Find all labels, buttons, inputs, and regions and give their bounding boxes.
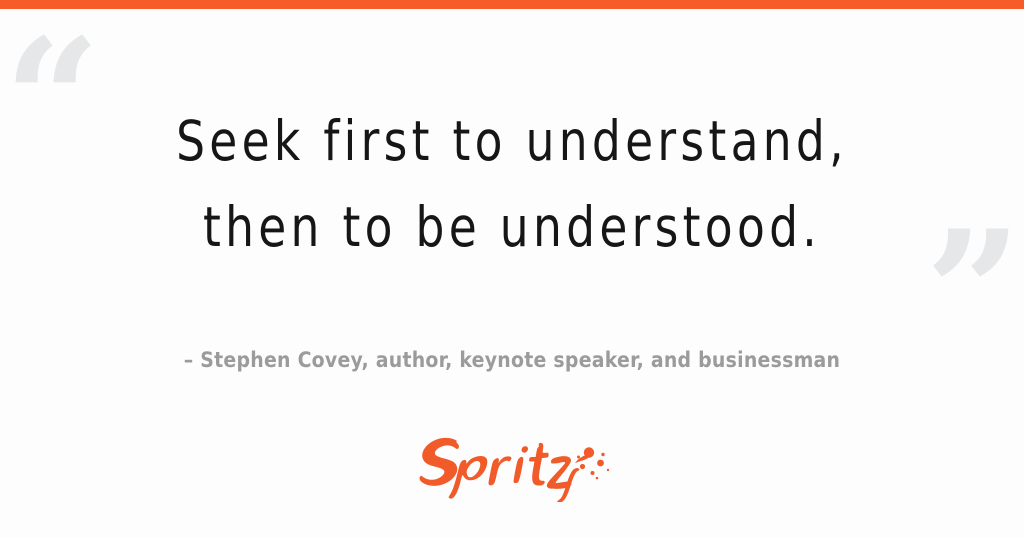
quote-card: “ ” Seek first to understand, then to be… — [0, 0, 1024, 538]
spritz-logo: Spritz — [0, 424, 1024, 504]
spritz-wordmark-icon — [412, 424, 612, 502]
quote-attribution: – Stephen Covey, author, keynote speaker… — [0, 348, 1024, 372]
quote-line-2: then to be understood. — [41, 184, 983, 270]
top-orange-accent-bar — [0, 0, 1024, 9]
quote-line-1: Seek first to understand, — [41, 98, 983, 184]
quote-text-block: Seek first to understand, then to be und… — [0, 98, 1024, 270]
